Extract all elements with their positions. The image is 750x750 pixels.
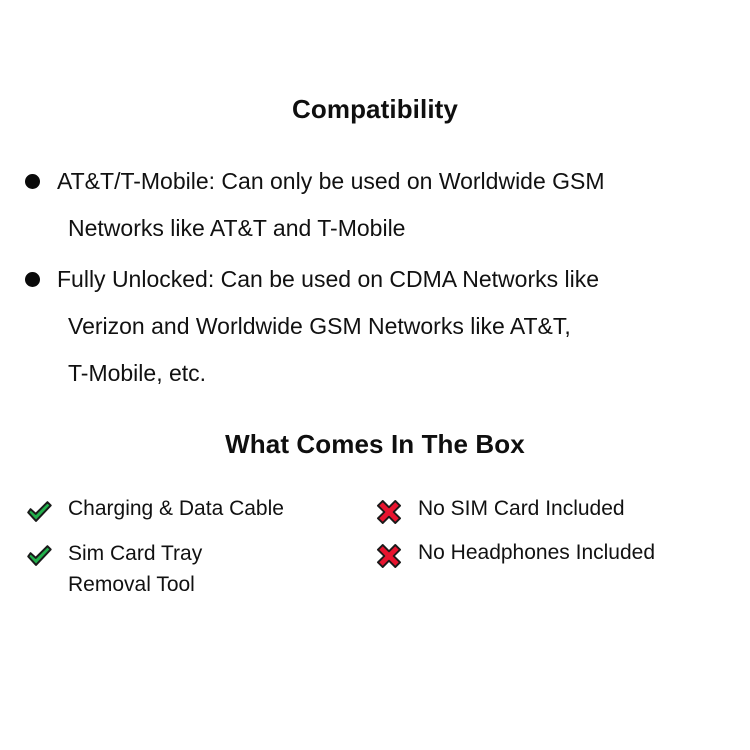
box-contents-heading: What Comes In The Box <box>0 428 750 460</box>
list-item: No SIM Card Included <box>374 494 734 534</box>
compatibility-bullet-line: Networks like AT&T and T-Mobile <box>0 205 750 252</box>
green-check-icon <box>24 497 54 527</box>
compatibility-bullet-line: T-Mobile, etc. <box>0 350 750 397</box>
included-item-label-line: Removal Tool <box>68 569 374 600</box>
red-cross-icon <box>374 497 404 527</box>
compatibility-info-panel: Compatibility AT&T/T-Mobile: Can only be… <box>0 0 750 750</box>
compatibility-bullet-line: Verizon and Worldwide GSM Networks like … <box>0 303 750 350</box>
excluded-item-label: No Headphones Included <box>374 538 734 568</box>
bullet-dot-icon <box>25 272 40 287</box>
compatibility-heading: Compatibility <box>0 93 750 125</box>
bullet-dot-icon <box>25 174 40 189</box>
compatibility-list: AT&T/T-Mobile: Can only be used on World… <box>0 158 750 401</box>
list-item: AT&T/T-Mobile: Can only be used on World… <box>0 158 750 252</box>
green-check-icon <box>24 541 54 571</box>
included-item-label: Sim Card Tray Removal Tool <box>24 538 374 600</box>
included-items-column: Charging & Data Cable Sim Card Tray Remo… <box>24 494 374 604</box>
list-item: Sim Card Tray Removal Tool <box>24 538 374 600</box>
compatibility-bullet-line: AT&T/T-Mobile: Can only be used on World… <box>0 158 750 205</box>
included-item-label-line: Sim Card Tray <box>68 538 374 569</box>
included-item-label: Charging & Data Cable <box>24 494 374 524</box>
list-item: Fully Unlocked: Can be used on CDMA Netw… <box>0 256 750 397</box>
compatibility-bullet-line: Fully Unlocked: Can be used on CDMA Netw… <box>0 256 750 303</box>
list-item: Charging & Data Cable <box>24 494 374 534</box>
list-item: No Headphones Included <box>374 538 734 578</box>
red-cross-icon <box>374 541 404 571</box>
excluded-item-label: No SIM Card Included <box>374 494 734 524</box>
excluded-items-column: No SIM Card Included No Headphones Inclu… <box>374 494 734 582</box>
